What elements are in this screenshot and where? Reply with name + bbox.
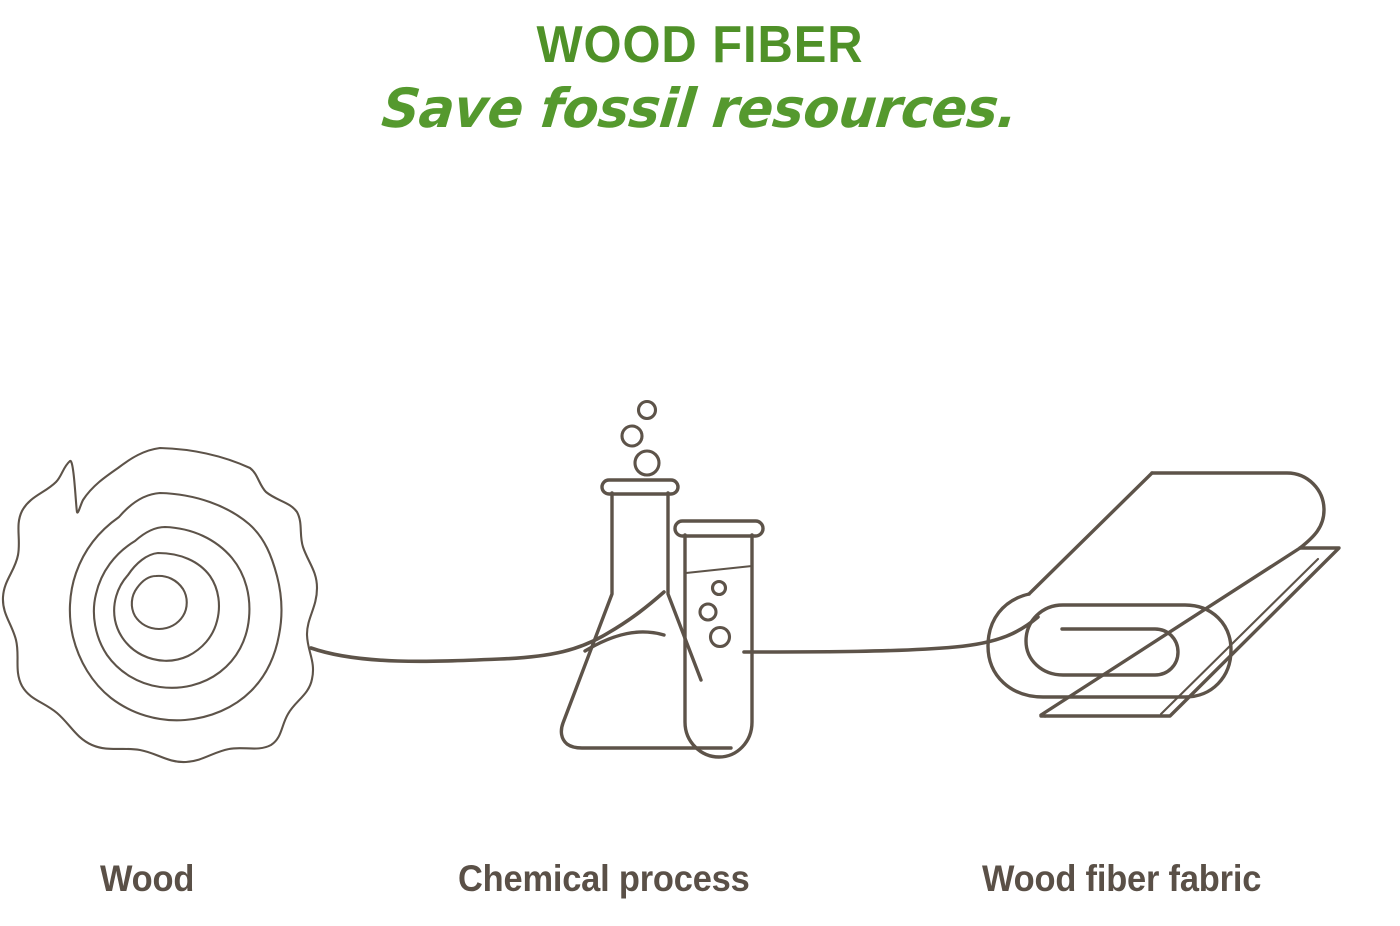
wood-log-icon (3, 448, 317, 762)
label-wood: Wood (100, 858, 194, 900)
label-chemical-process: Chemical process (458, 858, 750, 900)
flask-bubbles-icon (622, 402, 659, 476)
label-wood-fiber-fabric: Wood fiber fabric (982, 858, 1261, 900)
infographic-canvas: WOOD FIBER Save fossil resources. (0, 0, 1400, 926)
process-illustration (0, 0, 1400, 926)
test-tube-bubbles-icon (700, 582, 730, 647)
thread-connector-wood-to-chemical (311, 592, 664, 661)
test-tube-icon (675, 521, 763, 757)
step-labels: Wood Chemical process Wood fiber fabric (0, 858, 1400, 918)
fabric-bolt-icon (988, 473, 1339, 716)
chemistry-glassware-icon (561, 402, 763, 758)
